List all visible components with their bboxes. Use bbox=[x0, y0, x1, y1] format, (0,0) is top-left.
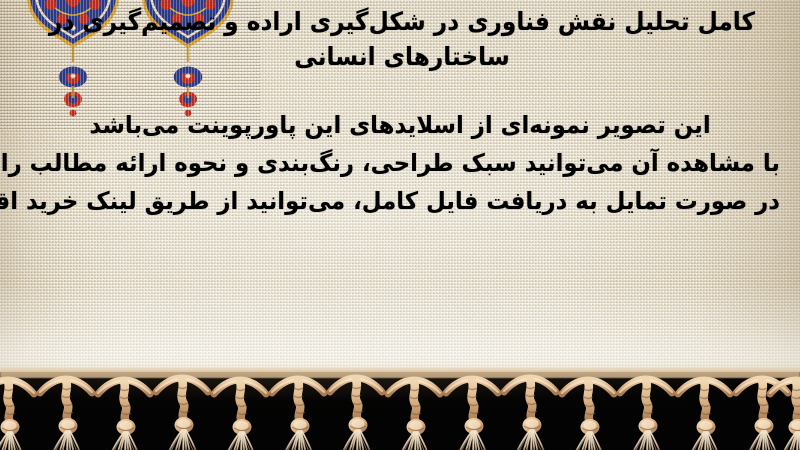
slide-body: این تصویر نمونه‌ای از اسلایدهای این پاور… bbox=[20, 106, 780, 220]
slide-title-line-2: ساختارهای انسانی bbox=[294, 42, 510, 71]
slide-title: کامل تحلیل نقش فناوری در شکل‌گیری اراده … bbox=[39, 4, 764, 74]
slide-body-line-2: با مشاهده آن می‌توانید سبک طراحی، رنگ‌بن… bbox=[20, 144, 780, 182]
fringe-tassels bbox=[0, 356, 800, 450]
tassel-row bbox=[0, 378, 800, 450]
slide-text-layer: کامل تحلیل نقش فناوری در شکل‌گیری اراده … bbox=[0, 0, 800, 376]
slide-title-line-1: کامل تحلیل نقش فناوری در شکل‌گیری اراده … bbox=[49, 7, 755, 36]
carpet-fringe-border bbox=[0, 356, 800, 450]
slide-body-line-3: در صورت تمایل به دریافت فایل کامل، می‌تو… bbox=[20, 182, 780, 220]
slide-body-line-1: این تصویر نمونه‌ای از اسلایدهای این پاور… bbox=[20, 106, 780, 144]
slide-canvas: کامل تحلیل نقش فناوری در شکل‌گیری اراده … bbox=[0, 0, 800, 450]
